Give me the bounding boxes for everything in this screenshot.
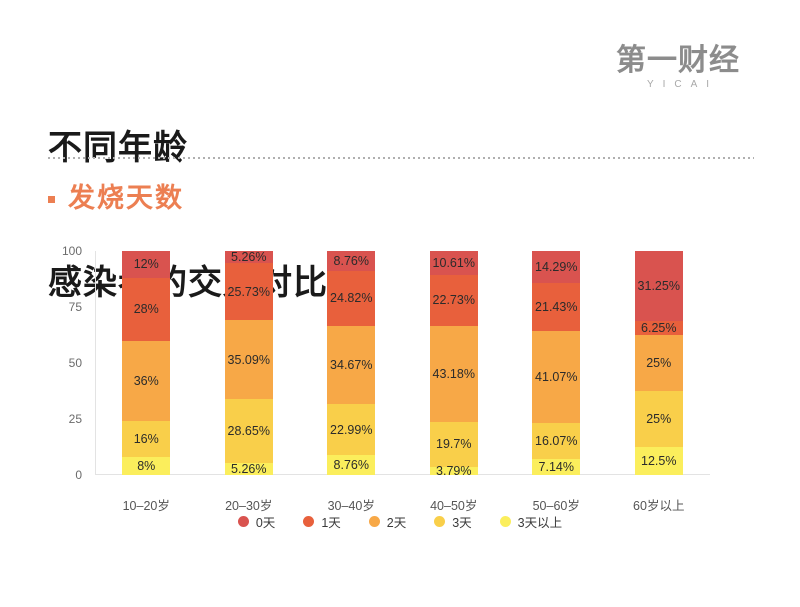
bar-segment[interactable]: 43.18% — [430, 326, 478, 423]
bar-segment[interactable]: 14.29% — [532, 251, 580, 283]
bar-segment[interactable]: 12% — [122, 251, 170, 278]
bar-value-label: 5.26% — [231, 463, 266, 475]
y-axis-tick: 25 — [69, 412, 82, 426]
bar-value-label: 8.76% — [334, 459, 369, 471]
legend-item[interactable]: 1天 — [303, 512, 340, 531]
bar-group[interactable]: 14.29%21.43%41.07%16.07%7.14% — [532, 251, 580, 475]
bar-value-label: 21.43% — [535, 301, 577, 313]
legend-label: 1天 — [321, 512, 340, 531]
bar-segment[interactable]: 35.09% — [225, 320, 273, 399]
bar-segment[interactable]: 28.65% — [225, 399, 273, 463]
section-title: 发烧天数 — [68, 183, 184, 213]
bar-value-label: 25.73% — [228, 286, 270, 298]
bar-segment[interactable]: 3.79% — [430, 467, 478, 475]
legend-color-dot — [369, 516, 380, 527]
bar-value-label: 12% — [134, 258, 159, 270]
legend-color-dot — [238, 516, 249, 527]
bar-segment[interactable]: 8% — [122, 457, 170, 475]
page-title-line-1: 不同年龄 — [48, 126, 328, 171]
y-axis-tick: 50 — [69, 356, 82, 370]
bar-segment[interactable]: 16% — [122, 421, 170, 457]
bar-value-label: 16.07% — [535, 435, 577, 447]
brand-logo: 第一财经 YICAI — [598, 44, 758, 92]
stacked-bar-chart: 025507510012%28%36%16%8%10–20岁5.26%25.73… — [0, 240, 800, 540]
header-divider — [48, 157, 754, 159]
legend-label: 3天以上 — [518, 512, 562, 531]
bar-value-label: 34.67% — [330, 359, 372, 371]
bar-segment[interactable]: 8.76% — [327, 251, 375, 271]
bar-value-label: 22.99% — [330, 424, 372, 436]
bar-value-label: 5.26% — [231, 251, 266, 263]
legend-label: 2天 — [387, 512, 406, 531]
legend-item[interactable]: 3天以上 — [500, 512, 562, 531]
bar-value-label: 25% — [646, 357, 671, 369]
bar-value-label: 19.7% — [436, 438, 471, 450]
bar-segment[interactable]: 34.67% — [327, 326, 375, 404]
bar-group[interactable]: 8.76%24.82%34.67%22.99%8.76% — [327, 251, 375, 475]
bar-value-label: 31.25% — [638, 280, 680, 292]
bar-value-label: 28.65% — [228, 425, 270, 437]
bar-value-label: 12.5% — [641, 455, 676, 467]
page-header: 不同年龄 感染者的交叉对比 第一财经 YICAI — [0, 0, 800, 150]
bar-segment[interactable]: 36% — [122, 341, 170, 422]
legend-color-dot — [500, 516, 511, 527]
bar-value-label: 6.25% — [641, 322, 676, 334]
bar-value-label: 10.61% — [433, 257, 475, 269]
legend-label: 3天 — [452, 512, 471, 531]
y-axis-tick: 100 — [62, 244, 82, 258]
section-header: 发烧天数 — [48, 183, 184, 213]
bar-value-label: 3.79% — [436, 465, 471, 477]
y-axis-tick: 0 — [75, 468, 82, 482]
bar-value-label: 14.29% — [535, 261, 577, 273]
legend-label: 0天 — [256, 512, 275, 531]
bar-value-label: 7.14% — [539, 461, 574, 473]
bar-value-label: 16% — [134, 433, 159, 445]
bar-group[interactable]: 31.25%6.25%25%25%12.5% — [635, 251, 683, 475]
bar-value-label: 41.07% — [535, 371, 577, 383]
chart-legend: 0天1天2天3天3天以上 — [0, 512, 800, 531]
bar-value-label: 8% — [137, 460, 155, 472]
bar-group[interactable]: 10.61%22.73%43.18%19.7%3.79% — [430, 251, 478, 475]
bar-value-label: 43.18% — [433, 368, 475, 380]
bar-segment[interactable]: 22.99% — [327, 404, 375, 455]
bar-value-label: 28% — [134, 303, 159, 315]
brand-logo-cn: 第一财经 — [598, 44, 758, 78]
legend-color-dot — [303, 516, 314, 527]
bar-value-label: 25% — [646, 413, 671, 425]
bar-segment[interactable]: 22.73% — [430, 275, 478, 326]
bar-segment[interactable]: 28% — [122, 278, 170, 341]
bar-segment[interactable]: 19.7% — [430, 422, 478, 466]
bar-segment[interactable]: 8.76% — [327, 455, 375, 475]
bar-segment[interactable]: 31.25% — [635, 251, 683, 321]
bar-segment[interactable]: 10.61% — [430, 251, 478, 275]
brand-logo-en: YICAI — [598, 78, 758, 92]
bar-value-label: 24.82% — [330, 292, 372, 304]
bar-segment[interactable]: 16.07% — [532, 423, 580, 459]
square-bullet-icon — [48, 196, 55, 203]
bar-segment[interactable]: 25% — [635, 391, 683, 447]
bar-segment[interactable]: 7.14% — [532, 459, 580, 475]
bar-segment[interactable]: 25.73% — [225, 263, 273, 321]
bar-segment[interactable]: 25% — [635, 335, 683, 391]
legend-color-dot — [434, 516, 445, 527]
bar-segment[interactable]: 12.5% — [635, 447, 683, 475]
bar-value-label: 35.09% — [228, 354, 270, 366]
bar-value-label: 36% — [134, 375, 159, 387]
bar-segment[interactable]: 41.07% — [532, 331, 580, 423]
y-axis-tick: 75 — [69, 300, 82, 314]
bar-segment[interactable]: 21.43% — [532, 283, 580, 331]
legend-item[interactable]: 3天 — [434, 512, 471, 531]
bar-segment[interactable]: 5.26% — [225, 251, 273, 263]
legend-item[interactable]: 0天 — [238, 512, 275, 531]
bar-value-label: 22.73% — [433, 294, 475, 306]
bar-segment[interactable]: 24.82% — [327, 271, 375, 327]
bar-segment[interactable]: 6.25% — [635, 321, 683, 335]
plot-area: 025507510012%28%36%16%8%10–20岁5.26%25.73… — [95, 251, 710, 475]
bar-group[interactable]: 12%28%36%16%8% — [122, 251, 170, 475]
bar-segment[interactable]: 5.26% — [225, 463, 273, 475]
legend-item[interactable]: 2天 — [369, 512, 406, 531]
bar-group[interactable]: 5.26%25.73%35.09%28.65%5.26% — [225, 251, 273, 475]
bar-value-label: 8.76% — [334, 255, 369, 267]
